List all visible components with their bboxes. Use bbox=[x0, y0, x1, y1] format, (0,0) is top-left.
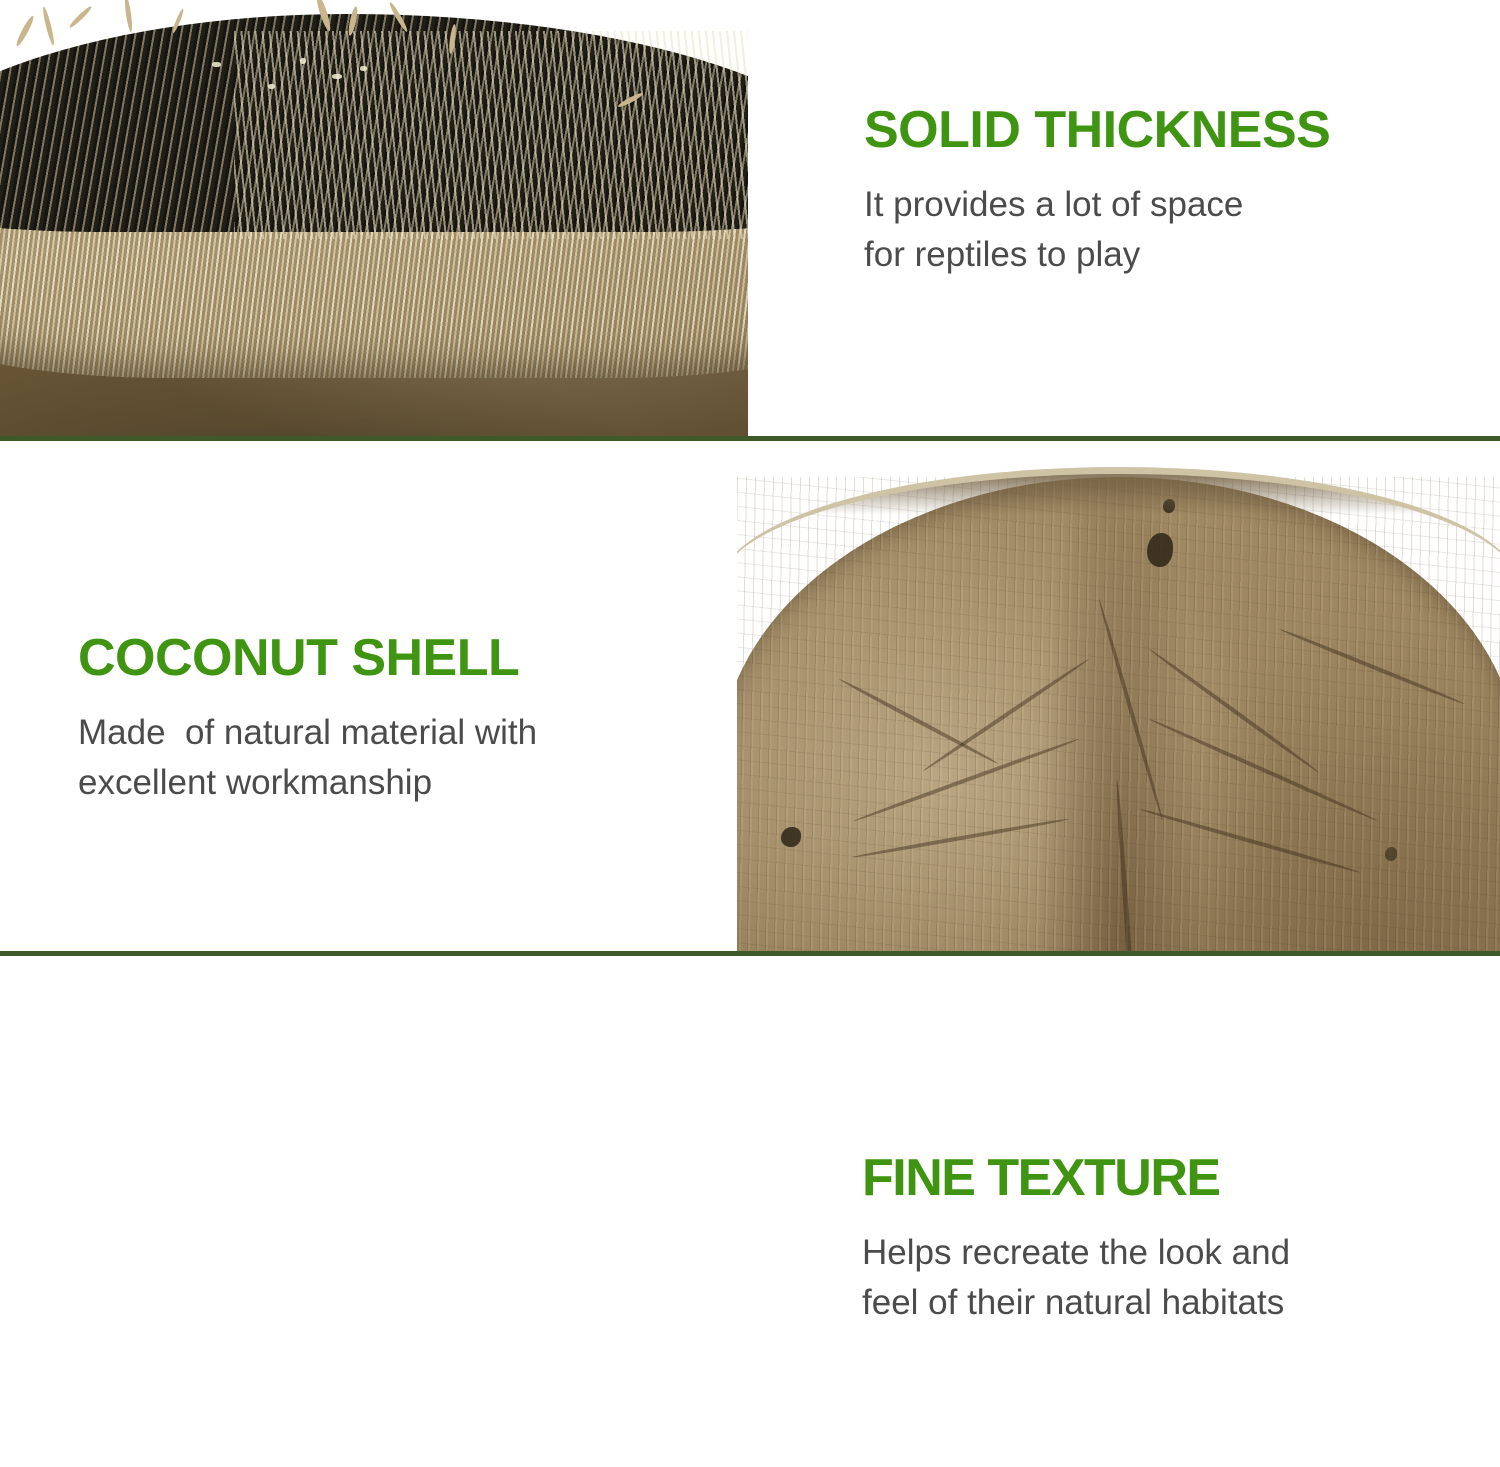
feature-body-coconut-shell: Made of natural material with excellent … bbox=[78, 708, 698, 807]
photo-coconut-shell-thickness bbox=[0, 0, 748, 436]
husk-fiber-strands bbox=[0, 0, 748, 120]
feature-row-solid-thickness: SOLID THICKNESS It provides a lot of spa… bbox=[0, 0, 1500, 436]
feature-heading-solid-thickness: SOLID THICKNESS bbox=[864, 104, 1484, 156]
infographic-page: SOLID THICKNESS It provides a lot of spa… bbox=[0, 0, 1500, 1467]
feature-text-coconut-shell: COCONUT SHELL Made of natural material w… bbox=[78, 632, 698, 807]
feature-row-fine-texture: FINE TEXTURE Helps recreate the look and… bbox=[0, 956, 1500, 1467]
feature-text-solid-thickness: SOLID THICKNESS It provides a lot of spa… bbox=[864, 104, 1484, 279]
feature-row-coconut-shell: COCONUT SHELL Made of natural material w… bbox=[0, 441, 1500, 951]
feature-text-fine-texture: FINE TEXTURE Helps recreate the look and… bbox=[862, 1152, 1482, 1327]
feature-body-fine-texture: Helps recreate the look and feel of thei… bbox=[862, 1228, 1482, 1327]
feature-body-solid-thickness: It provides a lot of space for reptiles … bbox=[864, 180, 1484, 279]
photo-coconut-shell-interior bbox=[737, 441, 1500, 951]
feature-heading-fine-texture: FINE TEXTURE bbox=[862, 1152, 1482, 1204]
feature-heading-coconut-shell: COCONUT SHELL bbox=[78, 632, 698, 684]
